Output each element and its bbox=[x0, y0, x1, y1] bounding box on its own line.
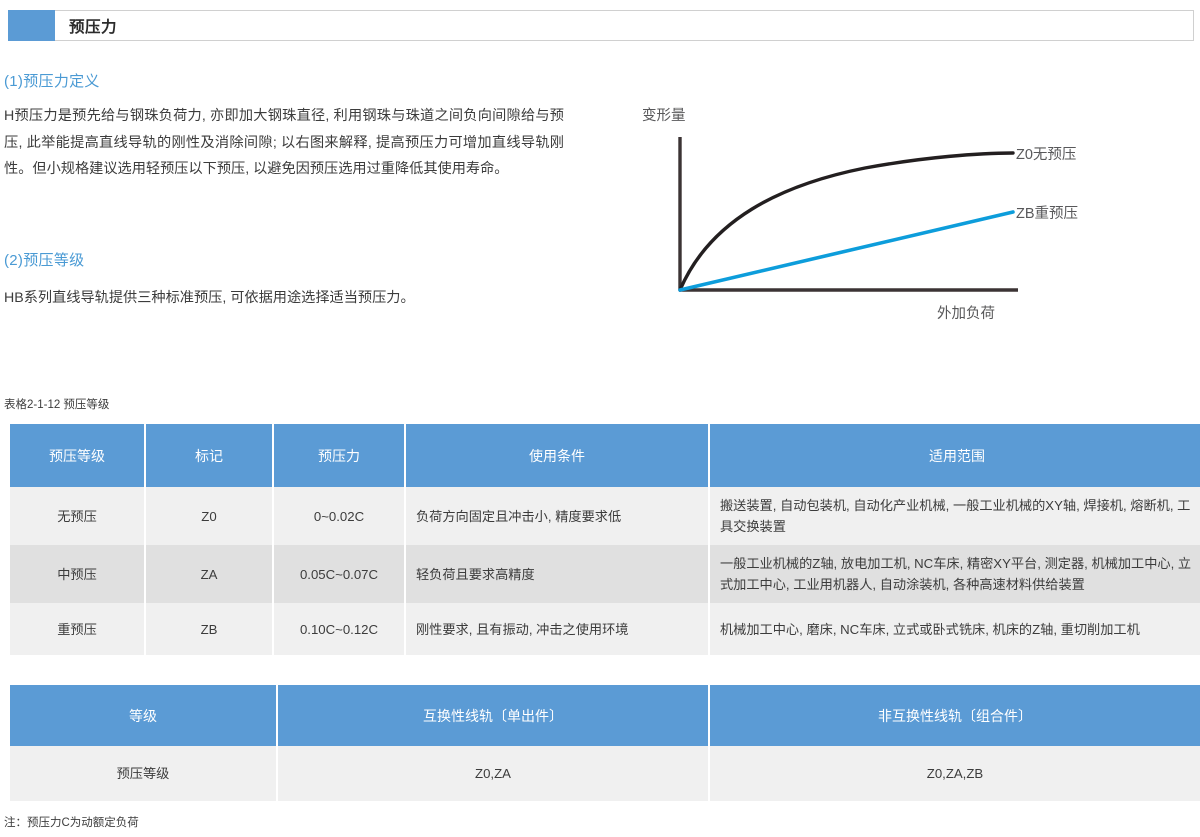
rail-interchangeability-table: 等级 互换性线轨〔单出件〕 非互换性线轨〔组合件〕 预压等级 Z0,ZA Z0,… bbox=[8, 685, 1200, 801]
table-row: 重预压 ZB 0.10C~0.12C 刚性要求, 且有振动, 冲击之使用环境 机… bbox=[10, 603, 1200, 655]
chart-legend-zb: ZB重预压 bbox=[1016, 202, 1078, 223]
chart-x-axis-label: 外加负荷 bbox=[937, 302, 995, 323]
cell-force: 0.05C~0.07C bbox=[274, 545, 404, 603]
section-2-heading: (2)预压等级 bbox=[4, 249, 84, 270]
table-row: 预压等级 Z0,ZA Z0,ZA,ZB bbox=[10, 746, 1200, 801]
cell-condition: 轻负荷且要求高精度 bbox=[406, 545, 708, 603]
table2-header-row: 等级 互换性线轨〔单出件〕 非互换性线轨〔组合件〕 bbox=[10, 685, 1200, 746]
cell-interchangeable: Z0,ZA bbox=[278, 746, 708, 801]
page-header: 预压力 bbox=[8, 10, 1194, 41]
cell-grade: 预压等级 bbox=[10, 746, 276, 801]
cell-force: 0~0.02C bbox=[274, 487, 404, 545]
cell-grade: 中预压 bbox=[10, 545, 144, 603]
page-title: 预压力 bbox=[69, 15, 117, 37]
chart-series-z0-curve bbox=[680, 153, 1013, 290]
cell-condition: 刚性要求, 且有振动, 冲击之使用环境 bbox=[406, 603, 708, 655]
section-1-body: H预压力是预先给与钢珠负荷力, 亦即加大钢珠直径, 利用钢珠与珠道之间负向间隙给… bbox=[4, 103, 564, 183]
table2-col-grade: 等级 bbox=[10, 685, 276, 746]
page-root: 预压力 (1)预压力定义 H预压力是预先给与钢珠负荷力, 亦即加大钢珠直径, 利… bbox=[0, 0, 1200, 837]
cell-non-interchangeable: Z0,ZA,ZB bbox=[710, 746, 1200, 801]
table2-col-interchangeable: 互换性线轨〔单出件〕 bbox=[278, 685, 708, 746]
table1-col-condition: 使用条件 bbox=[406, 424, 708, 487]
cell-mark: Z0 bbox=[146, 487, 272, 545]
preload-grade-table: 预压等级 标记 预压力 使用条件 适用范围 无预压 Z0 0~0.02C 负荷方… bbox=[8, 424, 1200, 655]
cell-mark: ZB bbox=[146, 603, 272, 655]
chart-legend-z0: Z0无预压 bbox=[1016, 143, 1076, 164]
table-row: 中预压 ZA 0.05C~0.07C 轻负荷且要求高精度 一般工业机械的Z轴, … bbox=[10, 545, 1200, 603]
section-1-heading: (1)预压力定义 bbox=[4, 70, 100, 91]
table1-header-row: 预压等级 标记 预压力 使用条件 适用范围 bbox=[10, 424, 1200, 487]
cell-grade: 重预压 bbox=[10, 603, 144, 655]
preload-deformation-chart: 变形量 外加负荷 Z0无预压 ZB重预压 bbox=[600, 90, 1200, 340]
table1-col-mark: 标记 bbox=[146, 424, 272, 487]
section-2-body: HB系列直线导轨提供三种标准预压, 可依据用途选择适当预压力。 bbox=[4, 285, 604, 312]
cell-application: 一般工业机械的Z轴, 放电加工机, NC车床, 精密XY平台, 测定器, 机械加… bbox=[710, 545, 1200, 603]
cell-application: 搬送装置, 自动包装机, 自动化产业机械, 一般工业机械的XY轴, 焊接机, 熔… bbox=[710, 487, 1200, 545]
cell-mark: ZA bbox=[146, 545, 272, 603]
table2-col-noninterchangeable: 非互换性线轨〔组合件〕 bbox=[710, 685, 1200, 746]
table1-col-application: 适用范围 bbox=[710, 424, 1200, 487]
chart-y-axis-label: 变形量 bbox=[642, 104, 686, 125]
cell-grade: 无预压 bbox=[10, 487, 144, 545]
header-title-box: 预压力 bbox=[55, 10, 1194, 41]
cell-condition: 负荷方向固定且冲击小, 精度要求低 bbox=[406, 487, 708, 545]
cell-force: 0.10C~0.12C bbox=[274, 603, 404, 655]
chart-svg bbox=[600, 90, 1200, 340]
table1-col-force: 预压力 bbox=[274, 424, 404, 487]
footnote: 注：预压力C为动额定负荷 bbox=[4, 814, 139, 830]
table-row: 无预压 Z0 0~0.02C 负荷方向固定且冲击小, 精度要求低 搬送装置, 自… bbox=[10, 487, 1200, 545]
table1-caption: 表格2-1-12 预压等级 bbox=[4, 396, 109, 412]
header-accent-swatch bbox=[8, 10, 55, 41]
table1-col-grade: 预压等级 bbox=[10, 424, 144, 487]
cell-application: 机械加工中心, 磨床, NC车床, 立式或卧式铣床, 机床的Z轴, 重切削加工机 bbox=[710, 603, 1200, 655]
